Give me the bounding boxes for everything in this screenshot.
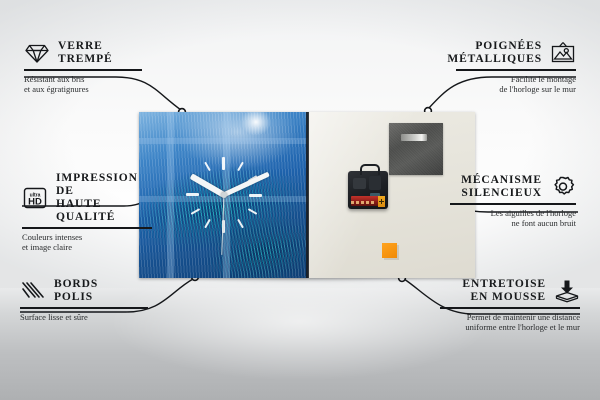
gear-icon bbox=[550, 175, 576, 199]
panel-edge bbox=[306, 112, 309, 278]
callout-subtitle: Les aiguilles de l'horloge ne font aucun… bbox=[450, 208, 576, 229]
callout-title: VERRE TREMPÉ bbox=[58, 40, 113, 66]
callout-subtitle: Permet de maintenir une distance uniform… bbox=[440, 312, 580, 333]
bracket-texture bbox=[389, 123, 443, 175]
foam-spacer bbox=[382, 243, 397, 258]
callout-rule bbox=[20, 307, 148, 309]
product-group bbox=[139, 112, 475, 278]
callout-bords-polis[interactable]: BORDS POLIS Surface lisse et sûre bbox=[20, 278, 148, 322]
clock-highlight bbox=[234, 112, 278, 142]
movement-detail bbox=[369, 176, 381, 190]
callout-rule bbox=[456, 69, 576, 71]
metal-hanger-bracket bbox=[389, 123, 443, 175]
foam-spacer-icon bbox=[554, 279, 580, 303]
svg-text:HD: HD bbox=[28, 197, 42, 208]
callout-title: IMPRESSION DE HAUTE QUALITÉ bbox=[56, 172, 152, 224]
callout-header: ultra HD IMPRESSION DE HAUTE QUALITÉ bbox=[22, 172, 152, 224]
callout-title: BORDS POLIS bbox=[54, 278, 98, 304]
callout-subtitle: Résistant aux bris et aux égratignures bbox=[24, 74, 142, 95]
clock-center-cap bbox=[221, 192, 227, 198]
callout-rule bbox=[440, 307, 580, 309]
battery-plus-terminal bbox=[378, 196, 385, 207]
callout-subtitle: Couleurs intenses et image claire bbox=[22, 232, 152, 253]
diamond-icon bbox=[24, 41, 50, 65]
callout-header: VERRE TREMPÉ bbox=[24, 40, 142, 66]
callout-header: ENTRETOISE EN MOUSSE bbox=[440, 278, 580, 304]
callout-poignees-metalliques[interactable]: POIGNÉES MÉTALLIQUES Facilite le montage… bbox=[456, 40, 576, 95]
clock-grid-line bbox=[139, 138, 308, 144]
callout-header: POIGNÉES MÉTALLIQUES bbox=[456, 40, 576, 66]
picture-frame-hanger-icon bbox=[550, 41, 576, 65]
callout-mecanisme-silencieux[interactable]: MÉCANISME SILENCIEUX Les aiguilles de l'… bbox=[450, 174, 576, 229]
clock-face bbox=[139, 112, 308, 278]
polished-edge-icon bbox=[20, 279, 46, 303]
clock-grid-line bbox=[167, 112, 174, 278]
callout-entretoise-en-mousse[interactable]: ENTRETOISE EN MOUSSE Permet de maintenir… bbox=[440, 278, 580, 333]
quartz-movement-box bbox=[348, 171, 388, 209]
callout-title: ENTRETOISE EN MOUSSE bbox=[462, 278, 546, 304]
ultra-hd-icon: ultra HD bbox=[22, 186, 48, 210]
callout-rule bbox=[22, 227, 152, 229]
callout-rule bbox=[24, 69, 142, 71]
movement-detail bbox=[353, 178, 366, 189]
callout-title: MÉCANISME SILENCIEUX bbox=[461, 174, 542, 200]
callout-header: MÉCANISME SILENCIEUX bbox=[450, 174, 576, 200]
callout-impression-haute-qualite[interactable]: ultra HD IMPRESSION DE HAUTE QUALITÉ Cou… bbox=[22, 172, 152, 253]
bracket-slot bbox=[401, 134, 427, 141]
callout-rule bbox=[450, 203, 576, 205]
callout-verre-trempe[interactable]: VERRE TREMPÉ Résistant aux bris et aux é… bbox=[24, 40, 142, 95]
callout-header: BORDS POLIS bbox=[20, 278, 148, 304]
battery-label bbox=[351, 201, 375, 204]
callout-subtitle: Facilite le montage de l'horloge sur le … bbox=[456, 74, 576, 95]
callout-subtitle: Surface lisse et sûre bbox=[20, 312, 148, 323]
movement-hook bbox=[360, 164, 380, 175]
infographic-canvas: VERRE TREMPÉ Résistant aux bris et aux é… bbox=[0, 0, 600, 400]
callout-title: POIGNÉES MÉTALLIQUES bbox=[447, 40, 542, 66]
